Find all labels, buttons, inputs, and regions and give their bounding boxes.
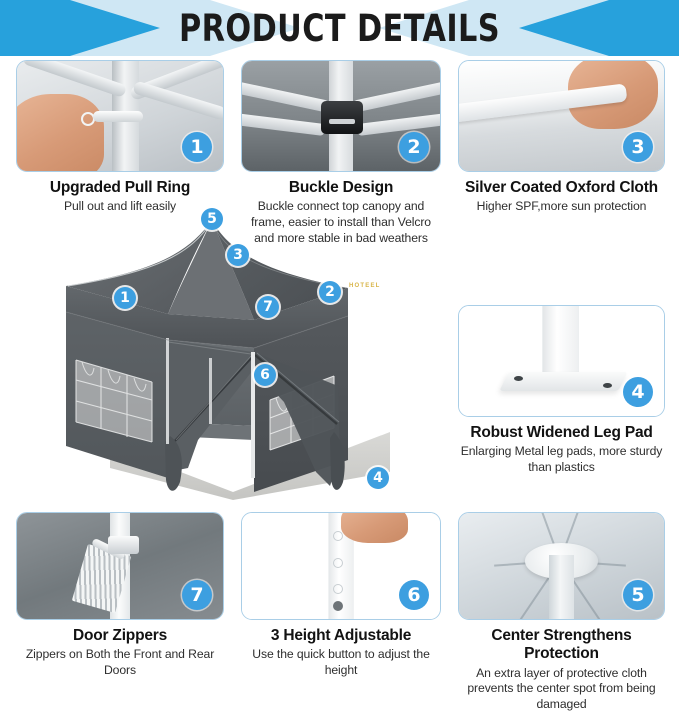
feature-photo-1: 1: [16, 60, 224, 172]
badge-3: 3: [623, 132, 653, 162]
feature-title-6: 3 Height Adjustable: [241, 627, 441, 645]
canopy-callout-7: 7: [257, 296, 279, 318]
feature-photo-4: 4: [458, 305, 665, 417]
feature-caption-6: 3 Height Adjustable Use the quick button…: [241, 627, 441, 679]
feature-photo-6: 6: [241, 512, 441, 620]
feature-caption-3: Silver Coated Oxford Cloth Higher SPF,mo…: [458, 179, 665, 215]
page-title: PRODUCT DETAILS: [61, 0, 618, 56]
canopy-callout-4: 4: [367, 467, 389, 489]
feature-desc-3: Higher SPF,more sun protection: [458, 199, 665, 215]
feature-card-1: 1 Upgraded Pull Ring Pull out and lift e…: [16, 60, 224, 215]
feature-card-5: 5 Center Strengthens Protection An extra…: [458, 512, 665, 712]
feature-photo-5: 5: [458, 512, 665, 620]
feature-title-4: Robust Widened Leg Pad: [458, 424, 665, 442]
feature-photo-7: 7: [16, 512, 224, 620]
badge-5: 5: [623, 580, 653, 610]
feature-title-7: Door Zippers: [16, 627, 224, 645]
feature-card-4: 4 Robust Widened Leg Pad Enlarging Metal…: [458, 305, 665, 476]
feature-desc-7: Zippers on Both the Front and Rear Doors: [16, 647, 224, 678]
badge-4: 4: [623, 377, 653, 407]
feature-card-7: 7 Door Zippers Zippers on Both the Front…: [16, 512, 224, 679]
feature-desc-6: Use the quick button to adjust the heigh…: [241, 647, 441, 678]
feature-card-3: 3 Silver Coated Oxford Cloth Higher SPF,…: [458, 60, 665, 215]
feature-caption-4: Robust Widened Leg Pad Enlarging Metal l…: [458, 424, 665, 476]
feature-desc-4: Enlarging Metal leg pads, more sturdy th…: [458, 444, 665, 475]
badge-1: 1: [182, 132, 212, 162]
badge-7: 7: [182, 580, 212, 610]
brand-logo: HOTEEL: [349, 283, 381, 289]
canopy-callout-3: 3: [227, 244, 249, 266]
feature-card-6: 6 3 Height Adjustable Use the quick butt…: [241, 512, 441, 679]
feature-caption-7: Door Zippers Zippers on Both the Front a…: [16, 627, 224, 679]
canopy-callout-6: 6: [254, 364, 276, 386]
badge-2: 2: [399, 132, 429, 162]
feature-photo-3: 3: [458, 60, 665, 172]
canopy-callout-2: 2: [319, 281, 341, 303]
feature-desc-5: An extra layer of protective cloth preve…: [458, 666, 665, 712]
feature-title-5: Center Strengthens Protection: [458, 627, 665, 664]
feature-caption-5: Center Strengthens Protection An extra l…: [458, 627, 665, 712]
badge-6: 6: [399, 580, 429, 610]
feature-title-3: Silver Coated Oxford Cloth: [458, 179, 665, 197]
canopy-callout-5: 5: [201, 208, 223, 230]
feature-title-2: Buckle Design: [241, 179, 441, 197]
canopy-callout-1: 1: [114, 287, 136, 309]
feature-photo-2: 2: [241, 60, 441, 172]
feature-title-1: Upgraded Pull Ring: [16, 179, 224, 197]
header-banner: PRODUCT DETAILS: [0, 0, 679, 56]
